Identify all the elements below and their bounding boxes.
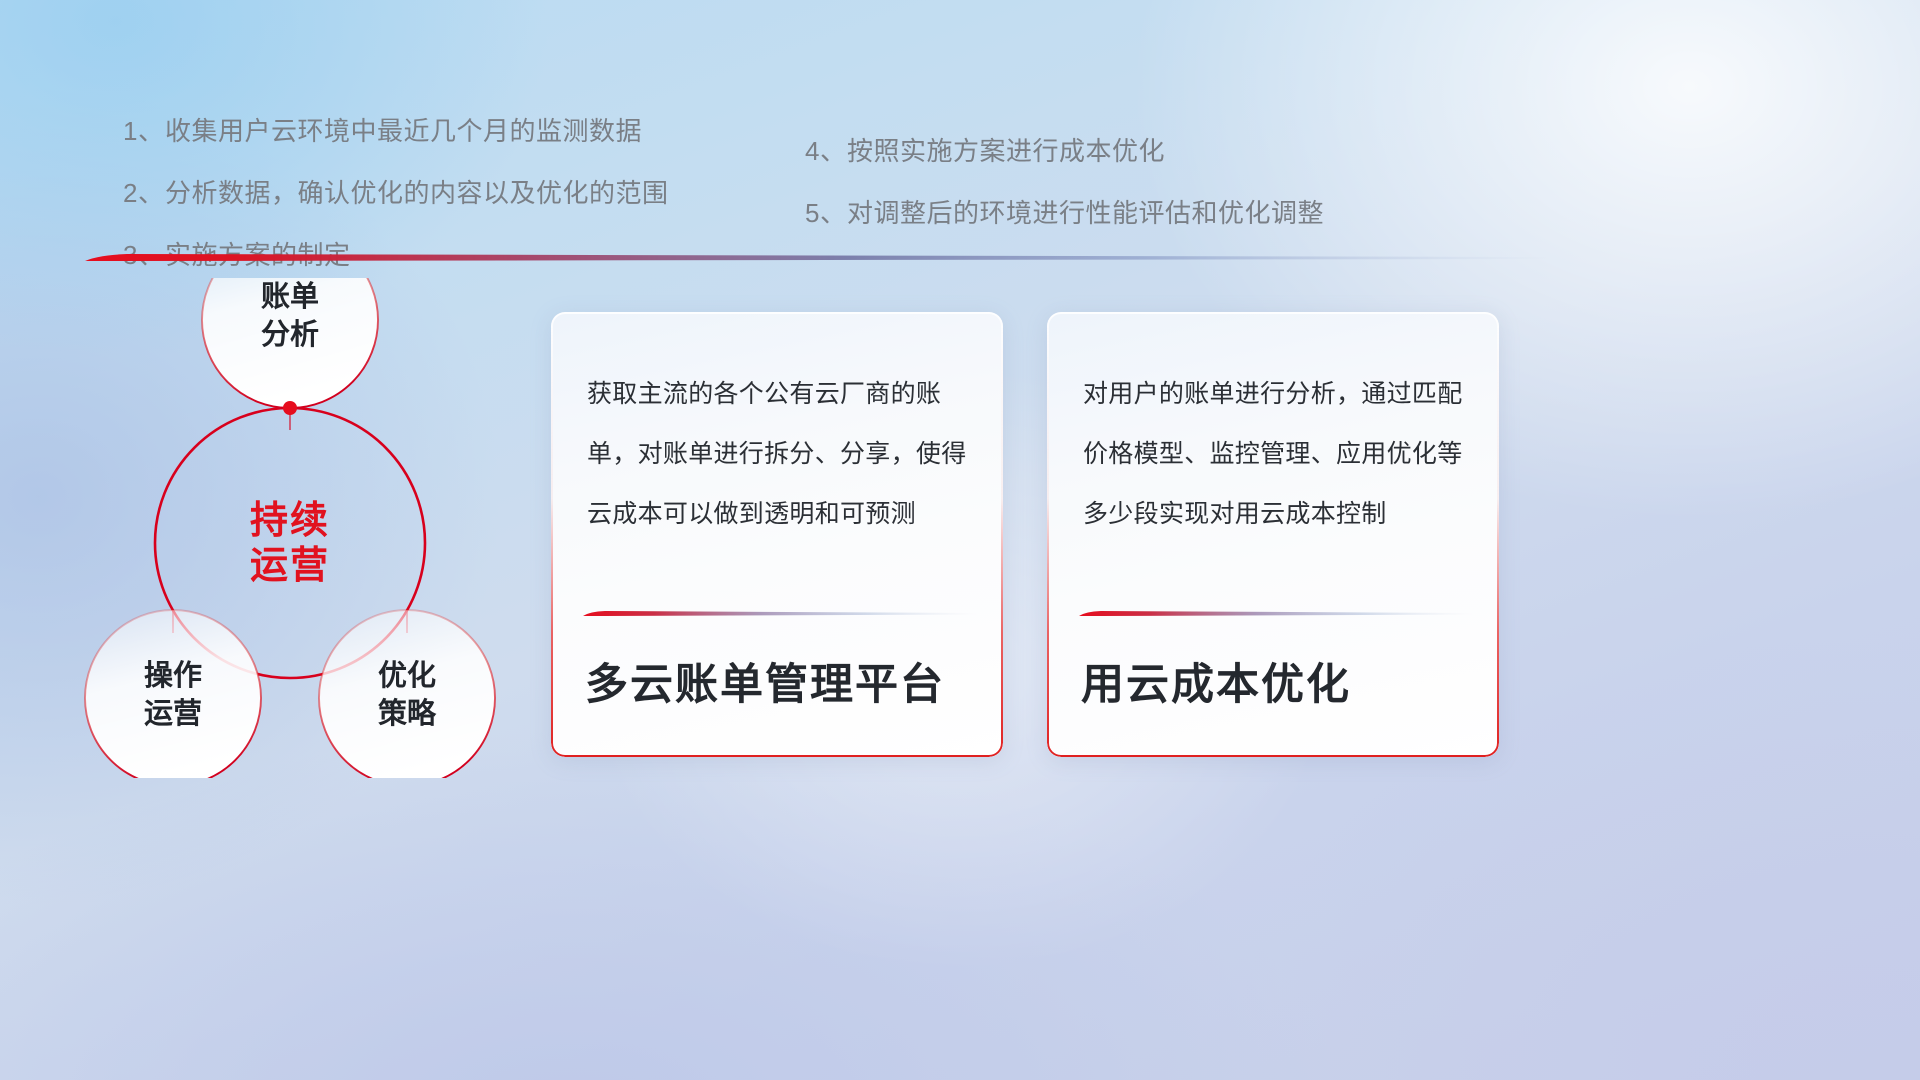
feature-card[interactable]: 对用户的账单进行分析，通过匹配价格模型、监控管理、应用优化等多少段实现对用云成本… <box>1047 312 1499 757</box>
node-circle <box>319 610 495 778</box>
step-text: 按照实施方案进行成本优化 <box>847 120 1165 182</box>
node-label-line2: 运营 <box>144 697 202 730</box>
step-number: 5、 <box>805 182 847 244</box>
step-item: 2、 分析数据，确认优化的内容以及优化的范围 <box>123 162 669 224</box>
step-item: 1、 收集用户云环境中最近几个月的监测数据 <box>123 100 669 162</box>
steps-right-column: 4、 按照实施方案进行成本优化 5、 对调整后的环境进行性能评估和优化调整 <box>805 120 1324 244</box>
node-label-line1: 账单 <box>261 280 319 313</box>
section-divider <box>85 252 1552 264</box>
node-label-line2: 分析 <box>261 318 319 351</box>
card-title: 多云账单管理平台 <box>585 650 983 712</box>
center-label-line2: 运营 <box>250 545 330 587</box>
card-rule <box>583 610 977 617</box>
node-label-line2: 策略 <box>378 696 437 730</box>
continuous-operation-diagram: 账单 分析 操作 运营 优化 策略 持续 运营 <box>60 278 520 778</box>
diagram-node-optimize-strategy[interactable]: 优化 策略 <box>319 610 495 778</box>
step-number: 4、 <box>805 120 847 182</box>
step-text: 对调整后的环境进行性能评估和优化调整 <box>847 182 1324 244</box>
center-label-line1: 持续 <box>250 500 330 542</box>
step-text: 收集用户云环境中最近几个月的监测数据 <box>165 100 642 162</box>
node-label-line1: 操作 <box>144 659 202 692</box>
node-dot-top <box>283 401 297 415</box>
card-body-text: 获取主流的各个公有云厂商的账单，对账单进行拆分、分享，使得云成本可以做到透明和可… <box>587 364 977 544</box>
step-number: 2、 <box>123 162 165 224</box>
step-item: 4、 按照实施方案进行成本优化 <box>805 120 1324 182</box>
node-label-line1: 优化 <box>378 659 436 692</box>
card-rule <box>1079 610 1473 617</box>
diagram-node-ops-operation[interactable]: 操作 运营 <box>85 610 261 778</box>
feature-card[interactable]: 获取主流的各个公有云厂商的账单，对账单进行拆分、分享，使得云成本可以做到透明和可… <box>551 312 1003 757</box>
node-circle <box>85 610 261 778</box>
diagram-node-bill-analysis[interactable]: 账单 分析 <box>202 278 378 408</box>
step-item: 5、 对调整后的环境进行性能评估和优化调整 <box>805 182 1324 244</box>
card-title: 用云成本优化 <box>1081 650 1479 712</box>
step-text: 分析数据，确认优化的内容以及优化的范围 <box>165 162 669 224</box>
step-number: 1、 <box>123 100 165 162</box>
card-body-text: 对用户的账单进行分析，通过匹配价格模型、监控管理、应用优化等多少段实现对用云成本… <box>1083 364 1473 544</box>
